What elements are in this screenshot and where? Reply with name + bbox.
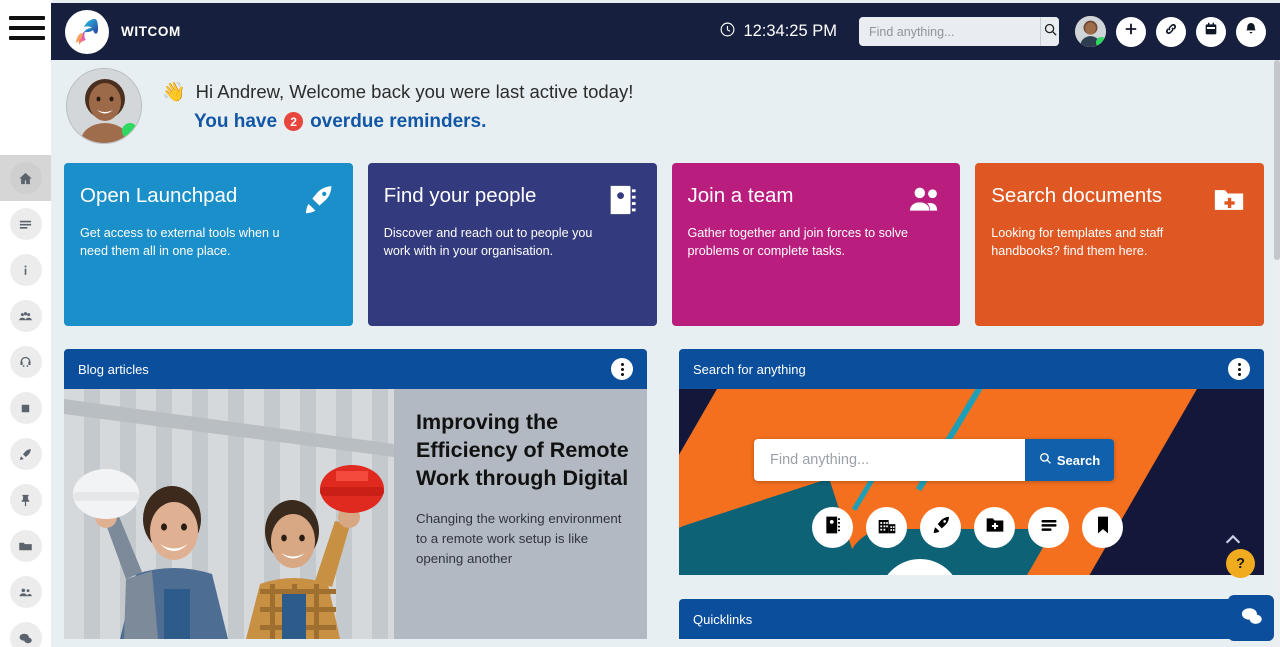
welcome-greeting: Hi Andrew, Welcome back you were last ac… [196, 81, 634, 103]
plus-icon [1123, 21, 1139, 42]
sidebar-item-support[interactable] [0, 339, 51, 385]
sidebar-item-teams[interactable] [0, 293, 51, 339]
kebab-menu-icon[interactable] [1228, 358, 1250, 380]
tile-find-your-people[interactable]: Find your people Discover and reach out … [368, 163, 657, 326]
link-icon [1163, 21, 1179, 42]
brand-name: WITCOM [121, 24, 181, 39]
tile-search-documents[interactable]: Search documents Looking for templates a… [975, 163, 1264, 326]
blog-article-card[interactable]: Improving the Efficiency of Remote Work … [64, 389, 647, 639]
clock-display: 12:34:25 PM [719, 21, 837, 43]
sidebar-item-launchpad[interactable] [0, 431, 51, 477]
tile-description: Get access to external tools when u need… [80, 224, 307, 261]
shortcut-organisation[interactable] [866, 507, 907, 548]
current-time: 12:34:25 PM [743, 22, 837, 41]
headset-icon [10, 346, 42, 378]
blog-articles-panel: Blog articles [64, 349, 647, 639]
shortcut-news-feed[interactable] [1028, 507, 1069, 548]
rocket-icon [931, 515, 951, 540]
brand[interactable]: WITCOM [65, 10, 181, 54]
hero-search-button[interactable]: Search [1025, 439, 1114, 481]
add-button[interactable] [1116, 17, 1146, 47]
tile-title: Find your people [384, 182, 561, 210]
welcome-text-group: 👋 Hi Andrew, Welcome back you were last … [162, 80, 633, 133]
tile-title: Search documents [991, 182, 1168, 210]
tile-title: Join a team [688, 182, 865, 210]
help-button[interactable]: ? [1226, 549, 1255, 578]
quicklinks-panel: Quicklinks [679, 599, 1264, 639]
rocket-icon [10, 438, 42, 470]
header-right-group: 12:34:25 PM [719, 16, 1280, 47]
chat-icon [10, 622, 42, 647]
status-badge: 2 [284, 112, 303, 131]
search-for-anything-panel: Search for anything Search [679, 349, 1264, 575]
search-icon [1039, 452, 1052, 468]
search-submit-button[interactable] [1040, 17, 1059, 46]
blog-panel-header: Blog articles [64, 349, 647, 389]
pin-icon [10, 484, 42, 516]
shortcut-documents[interactable] [974, 507, 1015, 548]
list-icon [1039, 515, 1059, 540]
article-image [64, 389, 394, 639]
tile-open-launchpad[interactable]: Open Launchpad Get access to external to… [64, 163, 353, 326]
list-icon [10, 208, 42, 240]
folder-icon [10, 530, 42, 562]
chat-bubble-icon [1239, 603, 1264, 633]
clock-icon [719, 21, 736, 43]
address-book-icon [823, 515, 843, 540]
sidebar-item-documents[interactable] [0, 523, 51, 569]
avatar[interactable] [1075, 16, 1106, 47]
panel-title: Search for anything [693, 362, 806, 377]
page-scrollbar[interactable] [1274, 60, 1280, 647]
search-shortcut-row [812, 507, 1123, 548]
tile-join-a-team[interactable]: Join a team Gather together and join for… [672, 163, 961, 326]
reminder-prefix: You have [194, 111, 277, 133]
top-header-bar: WITCOM 12:34:25 PM [51, 3, 1280, 60]
article-text: Improving the Efficiency of Remote Work … [394, 389, 647, 639]
hero-search-button-label: Search [1057, 453, 1100, 468]
home-icon [10, 162, 42, 194]
tile-description: Discover and reach out to people you wor… [384, 224, 611, 261]
people-group-icon [908, 183, 942, 222]
welcome-greeting-row: 👋 Hi Andrew, Welcome back you were last … [162, 80, 633, 104]
quicklinks-panel-header: Quicklinks [679, 599, 1264, 639]
bell-icon [1243, 21, 1259, 42]
shortcut-bookmarks[interactable] [1082, 507, 1123, 548]
panel-title: Quicklinks [693, 612, 752, 627]
online-status-dot [122, 123, 138, 139]
link-button[interactable] [1156, 17, 1186, 47]
article-excerpt: Changing the working environment to a re… [416, 509, 629, 569]
bookmark-icon [1093, 515, 1113, 540]
people-group-icon [10, 300, 42, 332]
hamburger-menu-icon[interactable] [9, 16, 45, 46]
online-status-dot [1096, 37, 1106, 47]
overdue-reminders-link[interactable]: You have 2 overdue reminders. [162, 111, 633, 133]
rocket-icon [301, 183, 335, 222]
kebab-menu-icon[interactable] [611, 358, 633, 380]
folder-plus-icon [1212, 183, 1246, 222]
sidebar-item-information[interactable] [0, 247, 51, 293]
chat-widget-button[interactable] [1228, 595, 1274, 641]
page-root: WITCOM 12:34:25 PM [0, 0, 1280, 647]
folder-plus-icon [985, 515, 1005, 540]
square-icon [10, 392, 42, 424]
sidebar-item-chat[interactable] [0, 615, 51, 647]
tile-description: Looking for templates and staff handbook… [991, 224, 1218, 261]
tile-description: Gather together and join forces to solve… [688, 224, 915, 261]
quick-action-tiles: Open Launchpad Get access to external to… [64, 163, 1264, 326]
search-input[interactable] [859, 17, 1040, 46]
users-icon [10, 576, 42, 608]
hummingbird-logo-icon [65, 10, 109, 54]
user-avatar-large[interactable] [66, 68, 142, 144]
scrollbar-thumb[interactable] [1274, 60, 1280, 260]
shortcut-launchpad[interactable] [920, 507, 961, 548]
search-panel-header: Search for anything [679, 349, 1264, 389]
calendar-icon [1203, 21, 1219, 42]
article-title: Improving the Efficiency of Remote Work … [416, 409, 629, 493]
search-icon [1043, 22, 1058, 42]
header-search-group [859, 17, 1059, 46]
hero-search-group: Search [754, 439, 1114, 481]
building-icon [877, 515, 897, 540]
sidebar-item-stop[interactable] [0, 385, 51, 431]
hero-search-input[interactable] [754, 439, 1025, 481]
reminder-suffix: overdue reminders. [310, 111, 486, 133]
panel-title: Blog articles [78, 362, 149, 377]
tile-title: Open Launchpad [80, 182, 257, 210]
search-hero-banner: Search [679, 389, 1264, 575]
welcome-banner: 👋 Hi Andrew, Welcome back you were last … [51, 60, 1280, 152]
address-book-icon [605, 183, 639, 222]
sidebar-item-news[interactable] [0, 201, 51, 247]
info-icon [10, 254, 42, 286]
rail-icon-list [0, 155, 51, 647]
calendar-button[interactable] [1196, 17, 1226, 47]
shortcut-people-directory[interactable] [812, 507, 853, 548]
sidebar-item-home[interactable] [0, 155, 51, 201]
notifications-button[interactable] [1236, 17, 1266, 47]
waving-hand-icon: 👋 [162, 80, 186, 104]
left-rail [0, 0, 51, 647]
sidebar-item-pinned[interactable] [0, 477, 51, 523]
sidebar-item-people[interactable] [0, 569, 51, 615]
